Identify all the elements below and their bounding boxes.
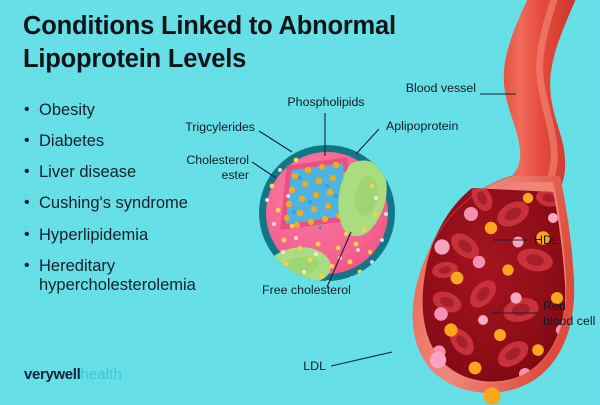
hdl-on-wall-bottom bbox=[483, 387, 500, 404]
verywell-health-logo: verywellhealth bbox=[24, 366, 122, 383]
infographic-canvas: Conditions Linked to Abnormal Lipoprotei… bbox=[0, 0, 600, 405]
callout-ldl: LDL bbox=[268, 359, 326, 374]
lipoprotein-particle-illustration bbox=[259, 145, 395, 284]
page-title: Conditions Linked to Abnormal Lipoprotei… bbox=[23, 10, 463, 76]
leader-triglycerides bbox=[259, 131, 292, 152]
callout-triglycerides: Trigcylerides bbox=[151, 120, 255, 135]
logo-primary: verywell bbox=[24, 366, 80, 383]
callout-hdl: HDL bbox=[534, 233, 594, 248]
ldl-on-wall bbox=[434, 239, 449, 254]
leader-cholesterol-ester bbox=[252, 162, 276, 178]
callout-free-cholesterol: Free cholesterol bbox=[262, 283, 372, 298]
leader-ldl bbox=[331, 352, 392, 366]
callout-blood-vessel: Blood vessel bbox=[370, 81, 476, 96]
list-item: Hyperlipidemia bbox=[24, 226, 249, 246]
callout-apolipoprotein: Aplipoprotein bbox=[386, 119, 490, 134]
list-item: Hereditary hypercholesterolemia bbox=[24, 257, 249, 296]
callout-phospholipids: Phospholipids bbox=[279, 95, 373, 110]
list-item: Obesity bbox=[24, 101, 249, 121]
logo-secondary: health bbox=[80, 366, 121, 383]
callout-cholesterol-ester: Cholesterol ester bbox=[163, 153, 249, 183]
ldl-on-wall-lower bbox=[430, 352, 446, 368]
leader-apolipoprotein bbox=[356, 129, 379, 154]
callout-red-blood-cell: Red blood cell bbox=[543, 299, 600, 329]
list-item: Cushing's syndrome bbox=[24, 194, 249, 214]
